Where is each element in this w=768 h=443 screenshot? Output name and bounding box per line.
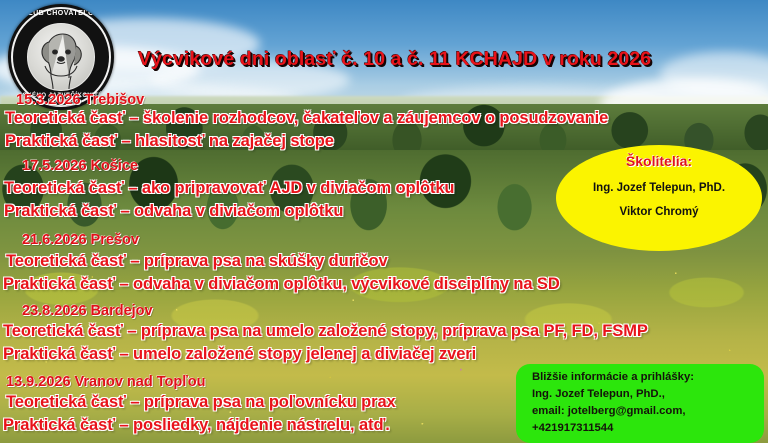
contact-person: Ing. Jozef Telepun, PhD., — [532, 386, 754, 403]
event-block: 23.8.2026 Bardejov Teoretická časť – prí… — [0, 303, 768, 364]
event-block: 15.3.2026 Trebišov Teoretická časť – ško… — [0, 92, 768, 151]
contact-phone[interactable]: +421917311544 — [532, 420, 754, 437]
event-theory-line: Teoretická časť – školenie rozhodcov, ča… — [0, 109, 768, 128]
trainers-callout: Školitelia: Ing. Jozef Telepun, PhD. Vik… — [556, 145, 762, 251]
logo-inner-disc — [27, 23, 95, 91]
trainer-name-2: Viktor Chromý — [619, 206, 698, 218]
contact-heading: Bližšie informácie a prihlášky: — [532, 369, 754, 386]
contact-email[interactable]: email: jotelberg@gmail.com, — [532, 403, 754, 420]
dog-head-icon — [33, 26, 89, 90]
logo-top-text: KLUB CHOVATEĽOV — [8, 10, 114, 17]
training-days-poster: KLUB CHOVATEĽOV ALPSKÉHO JAZVEČÍKOVITÉHO… — [0, 0, 768, 443]
event-theory-line: Teoretická časť – príprava psa na umelo … — [0, 322, 768, 341]
event-theory-line: Teoretická časť – príprava psa na skúšky… — [0, 252, 768, 271]
event-date: 15.3.2026 Trebišov — [0, 92, 768, 108]
event-practice-line: Praktická časť – odvaha v diviačom oplôt… — [0, 275, 768, 294]
page-title: Výcvikové dni oblasť č. 10 a č. 11 KCHAJ… — [138, 48, 718, 71]
trainer-name-1: Ing. Jozef Telepun, PhD. — [593, 182, 725, 194]
trainers-title: Školitelia: — [626, 153, 692, 169]
contact-box: Bližšie informácie a prihlášky: Ing. Joz… — [516, 364, 764, 443]
event-date: 23.8.2026 Bardejov — [0, 303, 768, 319]
event-practice-line: Praktická časť – umelo založené stopy je… — [0, 345, 768, 364]
